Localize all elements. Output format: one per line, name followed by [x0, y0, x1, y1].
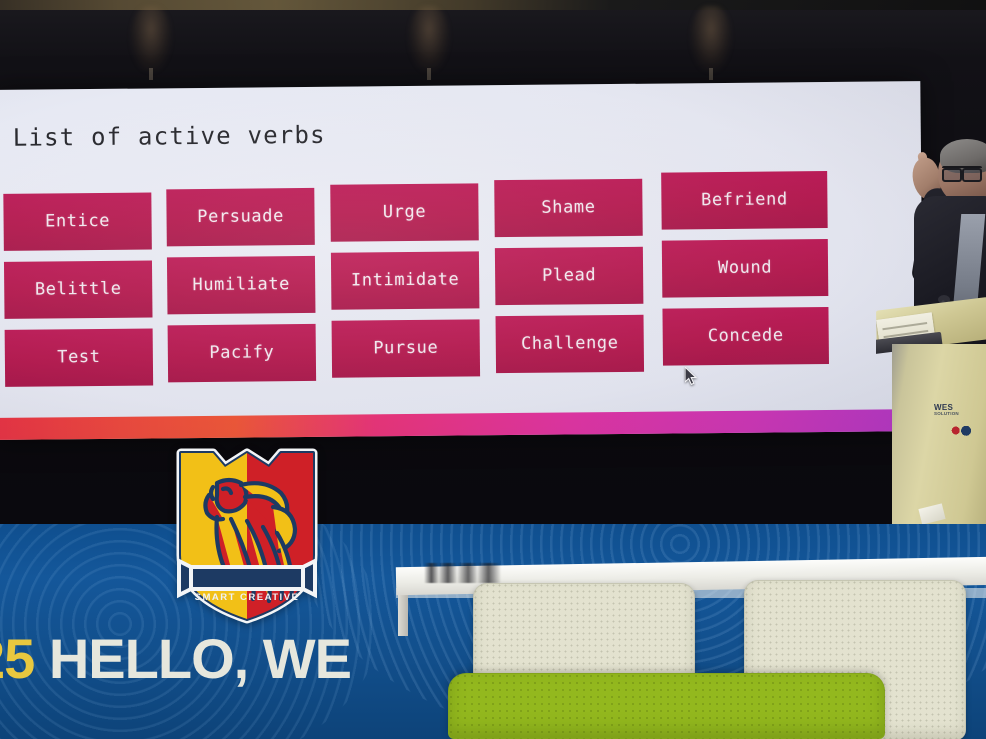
- verb-box[interactable]: Concede: [662, 307, 829, 366]
- verb-box[interactable]: Pursue: [332, 319, 481, 377]
- ceiling-light-post: [149, 68, 153, 80]
- banner-headline-text: HELLO, WE: [34, 627, 351, 690]
- verb-box[interactable]: Wound: [662, 239, 829, 298]
- verb-box[interactable]: Entice: [3, 192, 152, 250]
- verb-box[interactable]: Challenge: [496, 315, 645, 373]
- verb-box[interactable]: Pacify: [168, 324, 317, 382]
- projection-screen: List of active verbs Entice Belittle Tes…: [0, 81, 924, 440]
- ceiling-light-post: [709, 68, 713, 80]
- speaker-at-lectern: WES SOLUTION: [876, 0, 986, 560]
- verb-box[interactable]: Shame: [494, 179, 643, 237]
- podium-sign: WES SOLUTION: [934, 404, 984, 417]
- ceiling-light-icon: [690, 6, 732, 72]
- arrow-pointer-icon: [685, 367, 698, 386]
- ceiling-light-icon: [130, 6, 172, 72]
- verb-grid: Entice Belittle Test Persuade Humiliate …: [3, 177, 835, 390]
- banner-headline-year: 25: [0, 627, 34, 690]
- lion-shield-crest-icon: [173, 447, 321, 625]
- verb-column-5: Befriend Wound Concede: [661, 171, 811, 376]
- verb-box[interactable]: Persuade: [166, 188, 315, 246]
- screenshot-stage: List of active verbs Entice Belittle Tes…: [0, 0, 986, 739]
- podium-crest-icon: [950, 424, 976, 437]
- chair-green-front: [448, 673, 885, 739]
- verb-box[interactable]: Test: [5, 328, 154, 386]
- podium-sign-sub: SOLUTION: [934, 412, 984, 417]
- verb-column-2: Persuade Humiliate Pacify: [166, 188, 316, 393]
- ceiling-light-post: [427, 68, 431, 80]
- table-items: [424, 563, 516, 583]
- slide-title: List of active verbs: [13, 121, 326, 152]
- glasses-icon: [942, 166, 982, 177]
- verb-box[interactable]: Intimidate: [331, 251, 480, 309]
- verb-column-4: Shame Plead Challenge: [494, 179, 644, 384]
- ceiling-light-icon: [408, 6, 450, 72]
- banner-headline: 25 HELLO, WE: [0, 631, 351, 687]
- verb-box[interactable]: Humiliate: [167, 256, 316, 314]
- verb-box[interactable]: Befriend: [661, 171, 828, 230]
- verb-column-1: Entice Belittle Test: [3, 192, 153, 397]
- verb-box[interactable]: Belittle: [4, 260, 153, 318]
- verb-column-3: Urge Intimidate Pursue: [330, 183, 480, 388]
- verb-box[interactable]: Urge: [330, 183, 479, 241]
- verb-box[interactable]: Plead: [495, 247, 644, 305]
